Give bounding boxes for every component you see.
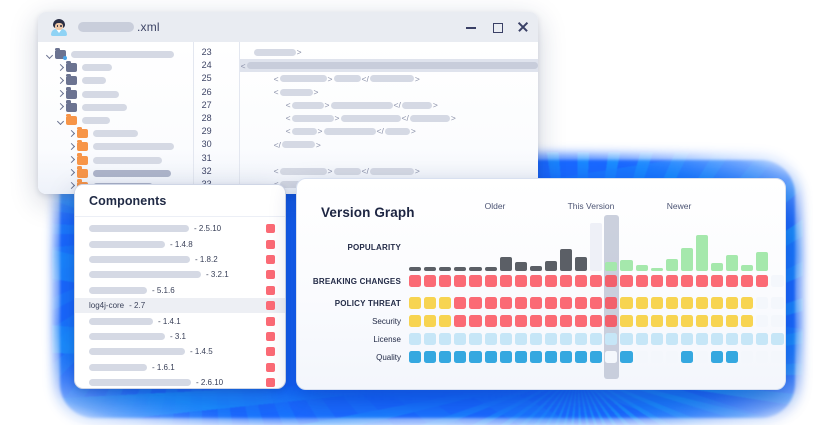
component-version: - 1.4.5 xyxy=(190,347,213,356)
popularity-bar[interactable] xyxy=(756,252,768,271)
heatmap-cell[interactable] xyxy=(515,333,527,345)
heatmap-cell[interactable] xyxy=(605,333,617,345)
component-version: - 2.5.10 xyxy=(194,224,221,233)
popularity-bar[interactable] xyxy=(696,235,708,271)
file-tree-row[interactable] xyxy=(38,114,193,127)
code-token-redacted xyxy=(410,115,450,122)
file-tree-label-redacted xyxy=(82,64,112,71)
component-label-group: - 2.6.10 xyxy=(89,378,258,387)
component-label-group: - 3.2.1 xyxy=(89,270,258,279)
chevron-right-icon[interactable] xyxy=(66,155,76,165)
component-label-group: - 1.4.1 xyxy=(89,317,258,326)
component-name-redacted xyxy=(89,348,185,355)
code-token-redacted xyxy=(334,168,361,175)
heatmap-cell[interactable] xyxy=(651,351,663,363)
heatmap-cell[interactable] xyxy=(620,333,632,345)
heatmap-cell[interactable] xyxy=(620,351,632,363)
heatmap-cell[interactable] xyxy=(454,315,466,327)
heatmap-cell[interactable] xyxy=(741,297,753,309)
heatmap-cell[interactable] xyxy=(741,275,753,287)
file-tree-row[interactable] xyxy=(38,127,193,140)
folder-icon xyxy=(66,63,77,72)
chevron-down-icon[interactable] xyxy=(44,50,54,60)
xml-bracket-token: </ xyxy=(274,141,281,150)
heatmap-cell[interactable] xyxy=(469,315,481,327)
developer-avatar-icon xyxy=(50,18,68,36)
chevron-right-icon[interactable] xyxy=(66,168,76,178)
heatmap-cell[interactable] xyxy=(666,315,678,327)
component-row[interactable]: - 1.4.8 xyxy=(75,236,285,251)
heatmap-cell[interactable] xyxy=(424,351,436,363)
heatmap-cell[interactable] xyxy=(545,315,557,327)
components-title: Components xyxy=(89,194,166,208)
xml-bracket-token: < xyxy=(274,75,279,84)
heatmap-cell[interactable] xyxy=(771,297,783,309)
popularity-bar[interactable] xyxy=(424,267,436,271)
heatmap-cell[interactable] xyxy=(711,351,723,363)
heatmap-cell[interactable] xyxy=(500,315,512,327)
heatmap-cell[interactable] xyxy=(756,315,768,327)
heatmap-cell[interactable] xyxy=(424,315,436,327)
heatmap-cell[interactable] xyxy=(469,333,481,345)
component-name-redacted xyxy=(89,364,147,371)
chevron-right-icon[interactable] xyxy=(55,76,65,86)
line-number: 23 xyxy=(194,46,239,59)
code-token-redacted xyxy=(280,89,313,96)
heatmap-cell[interactable] xyxy=(651,315,663,327)
code-token-redacted xyxy=(370,75,414,82)
row-label-license: License xyxy=(297,335,401,344)
heatmap-cell[interactable] xyxy=(666,351,678,363)
chevron-right-icon[interactable] xyxy=(55,63,65,73)
heatmap-cell[interactable] xyxy=(771,315,783,327)
heatmap-cell[interactable] xyxy=(409,275,421,287)
component-version: - 1.4.1 xyxy=(158,317,181,326)
popularity-bar[interactable] xyxy=(726,255,738,271)
heatmap-cell[interactable] xyxy=(726,297,738,309)
heatmap-cell[interactable] xyxy=(545,297,557,309)
screenshot-root: .xml 23242526272829303132333435 ><<></><… xyxy=(0,0,835,425)
file-tree-label-redacted xyxy=(82,104,127,111)
xml-bracket-token: > xyxy=(335,114,340,123)
component-row[interactable]: - 2.5.10 xyxy=(75,221,285,236)
component-name-redacted xyxy=(89,256,190,263)
chevron-right-icon[interactable] xyxy=(55,89,65,99)
window-title-extension: .xml xyxy=(137,20,160,34)
xml-bracket-token: > xyxy=(415,75,420,84)
file-tree-row[interactable] xyxy=(38,140,193,153)
close-icon[interactable] xyxy=(518,22,528,32)
component-label-group: - 5.1.6 xyxy=(89,286,258,295)
file-tree-label-redacted xyxy=(82,117,110,124)
file-tree-row[interactable] xyxy=(38,101,193,114)
popularity-bar[interactable] xyxy=(439,267,451,271)
heatmap-cell[interactable] xyxy=(636,297,648,309)
heatmap-cell[interactable] xyxy=(651,297,663,309)
chevron-down-icon[interactable] xyxy=(55,116,65,126)
heatmap-cell[interactable] xyxy=(454,351,466,363)
line-number: 26 xyxy=(194,86,239,99)
component-row[interactable]: - 1.4.5 xyxy=(75,344,285,359)
component-row[interactable]: - 1.4.1 xyxy=(75,313,285,328)
heatmap-cell[interactable] xyxy=(409,333,421,345)
file-tree-row[interactable] xyxy=(38,48,193,61)
popularity-bar[interactable] xyxy=(485,267,497,271)
heatmap-cell[interactable] xyxy=(469,275,481,287)
heatmap-cell[interactable] xyxy=(424,297,436,309)
heatmap-cell[interactable] xyxy=(439,297,451,309)
component-version: - 2.7 xyxy=(129,301,145,310)
folder-icon xyxy=(77,156,88,165)
heatmap-cell[interactable] xyxy=(590,351,602,363)
components-header: Components xyxy=(75,185,285,217)
heatmap-cell[interactable] xyxy=(575,333,587,345)
row-label-popularity: POPULARITY xyxy=(297,243,401,252)
popularity-bar[interactable] xyxy=(454,267,466,271)
code-line[interactable]: <></> xyxy=(240,112,538,125)
heatmap-cell[interactable] xyxy=(726,275,738,287)
xml-bracket-token: </ xyxy=(377,127,384,136)
xml-bracket-token: > xyxy=(328,167,333,176)
heatmap-cell[interactable] xyxy=(620,297,632,309)
heatmap-cell[interactable] xyxy=(500,333,512,345)
heatmap-cell[interactable] xyxy=(726,351,738,363)
column-header-newer: Newer xyxy=(649,201,709,211)
heatmap-cell[interactable] xyxy=(530,333,542,345)
heatmap-cell[interactable] xyxy=(485,297,497,309)
file-tree-row[interactable] xyxy=(38,154,193,167)
popularity-bar[interactable] xyxy=(620,260,632,271)
component-row[interactable]: - 2.6.10 xyxy=(75,375,285,389)
code-line[interactable]: <> xyxy=(240,86,538,99)
code-token-redacted xyxy=(331,102,393,109)
folder-icon xyxy=(66,90,77,99)
heatmap-cell[interactable] xyxy=(485,315,497,327)
component-label-group: - 1.4.8 xyxy=(89,240,258,249)
line-number: 27 xyxy=(194,99,239,112)
chevron-right-icon[interactable] xyxy=(55,102,65,112)
code-line[interactable]: <></> xyxy=(240,99,538,112)
component-version: - 3.1 xyxy=(170,332,186,341)
code-token-redacted xyxy=(282,141,315,148)
heatmap-cell[interactable] xyxy=(485,275,497,287)
folder-icon xyxy=(66,116,77,125)
code-line[interactable]: </> xyxy=(240,138,538,151)
popularity-bar[interactable] xyxy=(515,262,527,271)
component-row-selected[interactable]: log4j-core- 2.7 xyxy=(75,298,285,313)
code-token-redacted xyxy=(402,102,432,109)
component-label-group: - 1.4.5 xyxy=(89,347,258,356)
heatmap-cell[interactable] xyxy=(681,315,693,327)
code-line[interactable] xyxy=(240,152,538,165)
xml-bracket-token: > xyxy=(328,75,333,84)
editor-body: 23242526272829303132333435 ><<></><><></… xyxy=(38,42,538,194)
heatmap-cell[interactable] xyxy=(771,333,783,345)
heatmap-cell[interactable] xyxy=(560,315,572,327)
component-row[interactable]: - 3.1 xyxy=(75,329,285,344)
heatmap-cell[interactable] xyxy=(666,275,678,287)
heatmap-cell[interactable] xyxy=(756,297,768,309)
heatmap-cell[interactable] xyxy=(681,351,693,363)
component-version: - 5.1.6 xyxy=(152,286,175,295)
xml-bracket-token: < xyxy=(286,114,291,123)
code-token-redacted xyxy=(324,128,376,135)
code-editor-area[interactable]: ><<></><><></><></><></></><></><></><><… xyxy=(240,42,538,194)
heatmap-cell[interactable] xyxy=(756,333,768,345)
heatmap-cell[interactable] xyxy=(711,315,723,327)
version-graph-title: Version Graph xyxy=(321,205,415,220)
xml-bracket-token: < xyxy=(274,88,279,97)
heatmap-cell[interactable] xyxy=(485,333,497,345)
file-tree[interactable] xyxy=(38,42,194,194)
popularity-bar[interactable] xyxy=(605,262,617,271)
heatmap-cell[interactable] xyxy=(530,315,542,327)
heatmap-cell[interactable] xyxy=(636,351,648,363)
component-name-redacted xyxy=(89,225,189,232)
heatmap-cell[interactable] xyxy=(530,275,542,287)
heatmap-cell[interactable] xyxy=(515,315,527,327)
code-line[interactable]: <></> xyxy=(240,125,538,138)
popularity-bar[interactable] xyxy=(500,257,512,271)
component-row[interactable]: - 3.2.1 xyxy=(75,267,285,282)
code-token-redacted xyxy=(385,128,410,135)
line-number: 25 xyxy=(194,72,239,85)
maximize-icon[interactable] xyxy=(492,22,502,32)
heatmap-cell[interactable] xyxy=(409,315,421,327)
heatmap-cell[interactable] xyxy=(560,333,572,345)
heatmap-cell[interactable] xyxy=(711,275,723,287)
row-label-policy-threat: POLICY THREAT xyxy=(297,299,401,308)
code-token-redacted xyxy=(341,115,401,122)
popularity-bar[interactable] xyxy=(545,261,557,271)
code-token-redacted xyxy=(254,49,296,56)
heatmap-cell[interactable] xyxy=(530,351,542,363)
heatmap-cell[interactable] xyxy=(741,333,753,345)
heatmap-cell[interactable] xyxy=(575,351,587,363)
chevron-right-icon[interactable] xyxy=(66,142,76,152)
heatmap-cell[interactable] xyxy=(681,275,693,287)
heatmap-cell[interactable] xyxy=(711,333,723,345)
column-header-older: Older xyxy=(465,201,525,211)
heatmap-cell[interactable] xyxy=(756,351,768,363)
heatmap-cell[interactable] xyxy=(590,297,602,309)
heatmap-cell[interactable] xyxy=(771,275,783,287)
chevron-right-icon[interactable] xyxy=(66,129,76,139)
status-badge xyxy=(266,317,275,326)
window-titlebar: .xml xyxy=(38,12,538,42)
popularity-bar[interactable] xyxy=(409,267,421,271)
heatmap-cell[interactable] xyxy=(575,275,587,287)
heatmap-cell[interactable] xyxy=(469,297,481,309)
row-label-breaking-changes: BREAKING CHANGES xyxy=(297,277,401,286)
xml-bracket-token: </ xyxy=(402,114,409,123)
heatmap-cell[interactable] xyxy=(696,275,708,287)
file-tree-label-redacted xyxy=(93,130,138,137)
component-name-redacted xyxy=(89,333,165,340)
heatmap-cell[interactable] xyxy=(726,333,738,345)
code-line[interactable]: <></> xyxy=(240,165,538,178)
heatmap-cell[interactable] xyxy=(575,315,587,327)
popularity-bar[interactable] xyxy=(590,223,602,271)
heatmap-cell[interactable] xyxy=(515,275,527,287)
heatmap-cell[interactable] xyxy=(741,315,753,327)
heatmap-cell[interactable] xyxy=(500,351,512,363)
code-token-redacted xyxy=(334,75,361,82)
heatmap-cell[interactable] xyxy=(500,275,512,287)
heatmap-cell[interactable] xyxy=(530,297,542,309)
status-badge xyxy=(266,224,275,233)
heatmap-cell[interactable] xyxy=(560,297,572,309)
heatmap-cell[interactable] xyxy=(605,275,617,287)
heatmap-cell[interactable] xyxy=(756,275,768,287)
file-tree-row[interactable] xyxy=(38,88,193,101)
heatmap-cell[interactable] xyxy=(575,297,587,309)
heatmap-cell[interactable] xyxy=(666,333,678,345)
popularity-bar[interactable] xyxy=(666,259,678,271)
popularity-bar[interactable] xyxy=(636,265,648,271)
heatmap-cell[interactable] xyxy=(771,351,783,363)
heatmap-cell[interactable] xyxy=(711,297,723,309)
line-number: 31 xyxy=(194,152,239,165)
popularity-bar[interactable] xyxy=(560,249,572,271)
components-list[interactable]: - 2.5.10- 1.4.8- 1.8.2- 3.2.1- 5.1.6log4… xyxy=(75,217,285,389)
code-token-redacted xyxy=(280,168,327,175)
code-line[interactable]: <></> xyxy=(240,72,538,85)
popularity-bar[interactable] xyxy=(711,263,723,271)
code-token-redacted xyxy=(280,75,327,82)
heatmap-cell[interactable] xyxy=(620,315,632,327)
heatmap-cell[interactable] xyxy=(636,315,648,327)
heatmap-cell[interactable] xyxy=(409,297,421,309)
file-tree-row[interactable] xyxy=(38,74,193,87)
heatmap-cell[interactable] xyxy=(651,333,663,345)
heatmap-cell[interactable] xyxy=(696,351,708,363)
xml-bracket-token: > xyxy=(318,127,323,136)
minimize-icon[interactable] xyxy=(466,22,476,32)
xml-bracket-token: < xyxy=(286,127,291,136)
component-version: - 1.8.2 xyxy=(195,255,218,264)
popularity-bar[interactable] xyxy=(575,257,587,271)
heatmap-cell[interactable] xyxy=(605,315,617,327)
component-row[interactable]: - 1.8.2 xyxy=(75,252,285,267)
popularity-bar[interactable] xyxy=(651,268,663,271)
heatmap-cell[interactable] xyxy=(590,275,602,287)
heatmap-cell[interactable] xyxy=(424,333,436,345)
folder-icon xyxy=(77,129,88,138)
component-version: - 1.4.8 xyxy=(170,240,193,249)
component-name-redacted xyxy=(89,379,191,386)
code-token-redacted xyxy=(292,102,324,109)
file-tree-row[interactable] xyxy=(38,61,193,74)
component-row[interactable]: - 5.1.6 xyxy=(75,283,285,298)
heatmap-cell[interactable] xyxy=(409,351,421,363)
heatmap-cell[interactable] xyxy=(545,333,557,345)
heatmap-cell[interactable] xyxy=(439,351,451,363)
file-tree-label-redacted xyxy=(93,170,171,177)
file-tree-label-redacted xyxy=(82,77,106,84)
folder-icon xyxy=(66,103,77,112)
window-controls xyxy=(466,12,528,42)
component-label-group: - 3.1 xyxy=(89,332,258,341)
heatmap-cell[interactable] xyxy=(485,351,497,363)
file-tree-label-redacted xyxy=(93,143,174,150)
line-number: 24 xyxy=(194,59,239,72)
heatmap-cell[interactable] xyxy=(681,297,693,309)
heatmap-cell[interactable] xyxy=(741,351,753,363)
row-label-quality: Quality xyxy=(297,353,401,362)
code-line[interactable]: > xyxy=(240,46,538,59)
popularity-bar[interactable] xyxy=(469,267,481,271)
heatmap-cell[interactable] xyxy=(590,333,602,345)
component-name-redacted xyxy=(89,241,165,248)
heatmap-cell[interactable] xyxy=(439,333,451,345)
component-label-group: log4j-core- 2.7 xyxy=(89,301,258,310)
line-number: 28 xyxy=(194,112,239,125)
component-row[interactable]: - 1.6.1 xyxy=(75,360,285,375)
popularity-bar[interactable] xyxy=(741,265,753,271)
heatmap-cell[interactable] xyxy=(696,333,708,345)
heatmap-cell[interactable] xyxy=(515,297,527,309)
xml-bracket-token: < xyxy=(286,101,291,110)
heatmap-cell[interactable] xyxy=(726,315,738,327)
heatmap-cell[interactable] xyxy=(620,275,632,287)
heatmap-cell[interactable] xyxy=(545,351,557,363)
heatmap-cell[interactable] xyxy=(696,297,708,309)
popularity-bar[interactable] xyxy=(530,266,542,271)
heatmap-cell[interactable] xyxy=(545,275,557,287)
status-badge xyxy=(266,347,275,356)
heatmap-cell[interactable] xyxy=(605,351,617,363)
status-badge xyxy=(266,255,275,264)
heatmap-cell[interactable] xyxy=(424,275,436,287)
heatmap-cell[interactable] xyxy=(636,275,648,287)
heatmap-cell[interactable] xyxy=(454,297,466,309)
xml-bracket-token: > xyxy=(451,114,456,123)
heatmap-cell[interactable] xyxy=(681,333,693,345)
heatmap-cell[interactable] xyxy=(439,275,451,287)
heatmap-cell[interactable] xyxy=(696,315,708,327)
line-number-gutter: 23242526272829303132333435 xyxy=(194,42,240,194)
xml-bracket-token: > xyxy=(433,101,438,110)
line-number: 30 xyxy=(194,138,239,151)
heatmap-cell[interactable] xyxy=(560,275,572,287)
column-header-this-version: This Version xyxy=(555,201,627,211)
heatmap-cell[interactable] xyxy=(439,315,451,327)
heatmap-cell[interactable] xyxy=(560,351,572,363)
heatmap-cell[interactable] xyxy=(454,333,466,345)
component-name-redacted xyxy=(89,318,153,325)
file-tree-row[interactable] xyxy=(38,167,193,180)
heatmap-cell[interactable] xyxy=(469,351,481,363)
heatmap-cell[interactable] xyxy=(454,275,466,287)
heatmap-cell[interactable] xyxy=(590,315,602,327)
heatmap-cell[interactable] xyxy=(515,351,527,363)
component-label-group: - 1.6.1 xyxy=(89,363,258,372)
popularity-bar[interactable] xyxy=(681,248,693,271)
heatmap-cell[interactable] xyxy=(636,333,648,345)
xml-bracket-token: > xyxy=(314,88,319,97)
xml-editor-window: .xml 23242526272829303132333435 ><<></><… xyxy=(38,12,538,194)
heatmap-cell[interactable] xyxy=(666,297,678,309)
heatmap-cell[interactable] xyxy=(605,297,617,309)
code-line-selected[interactable]: < xyxy=(240,59,538,72)
status-badge xyxy=(266,286,275,295)
components-panel: Components - 2.5.10- 1.4.8- 1.8.2- 3.2.1… xyxy=(74,184,286,389)
xml-bracket-token: </ xyxy=(394,101,401,110)
heatmap-cell[interactable] xyxy=(651,275,663,287)
status-badge xyxy=(266,270,275,279)
heatmap-cell[interactable] xyxy=(500,297,512,309)
